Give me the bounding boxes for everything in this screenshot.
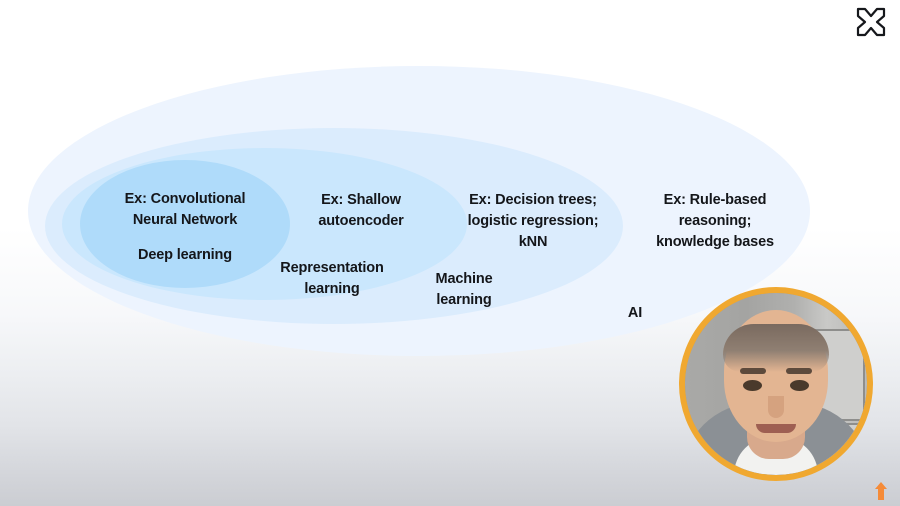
presenter-hair [723, 324, 829, 372]
presenter-eye-right [790, 380, 809, 391]
presenter-eyebrow-left [740, 368, 766, 374]
presenter-eyebrow-right [786, 368, 812, 374]
mouse-cursor-icon [874, 482, 888, 500]
label-representation-learning-example: Ex: Shallow autoencoder [270, 190, 452, 232]
presenter-eye-left [743, 380, 762, 391]
label-representation-learning-name: Representation learning [258, 258, 406, 300]
label-machine-learning-example: Ex: Decision trees; logistic regression;… [442, 190, 624, 253]
label-ai-example: Ex: Rule-based reasoning; knowledge base… [622, 190, 808, 253]
webcam-video-feed [685, 293, 867, 475]
label-deep-learning-name: Deep learning [92, 245, 278, 266]
presenter-webcam-bubble[interactable] [679, 287, 873, 481]
label-ai-name: AI [604, 303, 666, 324]
x-logo-icon [854, 5, 888, 39]
presenter-nose [768, 396, 784, 418]
label-deep-learning-example: Ex: Convolutional Neural Network [92, 189, 278, 231]
presenter-mouth [756, 424, 796, 433]
presenter-face [724, 310, 828, 442]
slide-canvas: Ex: Convolutional Neural Network Deep le… [0, 0, 900, 506]
label-machine-learning-name: Machine learning [404, 269, 524, 311]
